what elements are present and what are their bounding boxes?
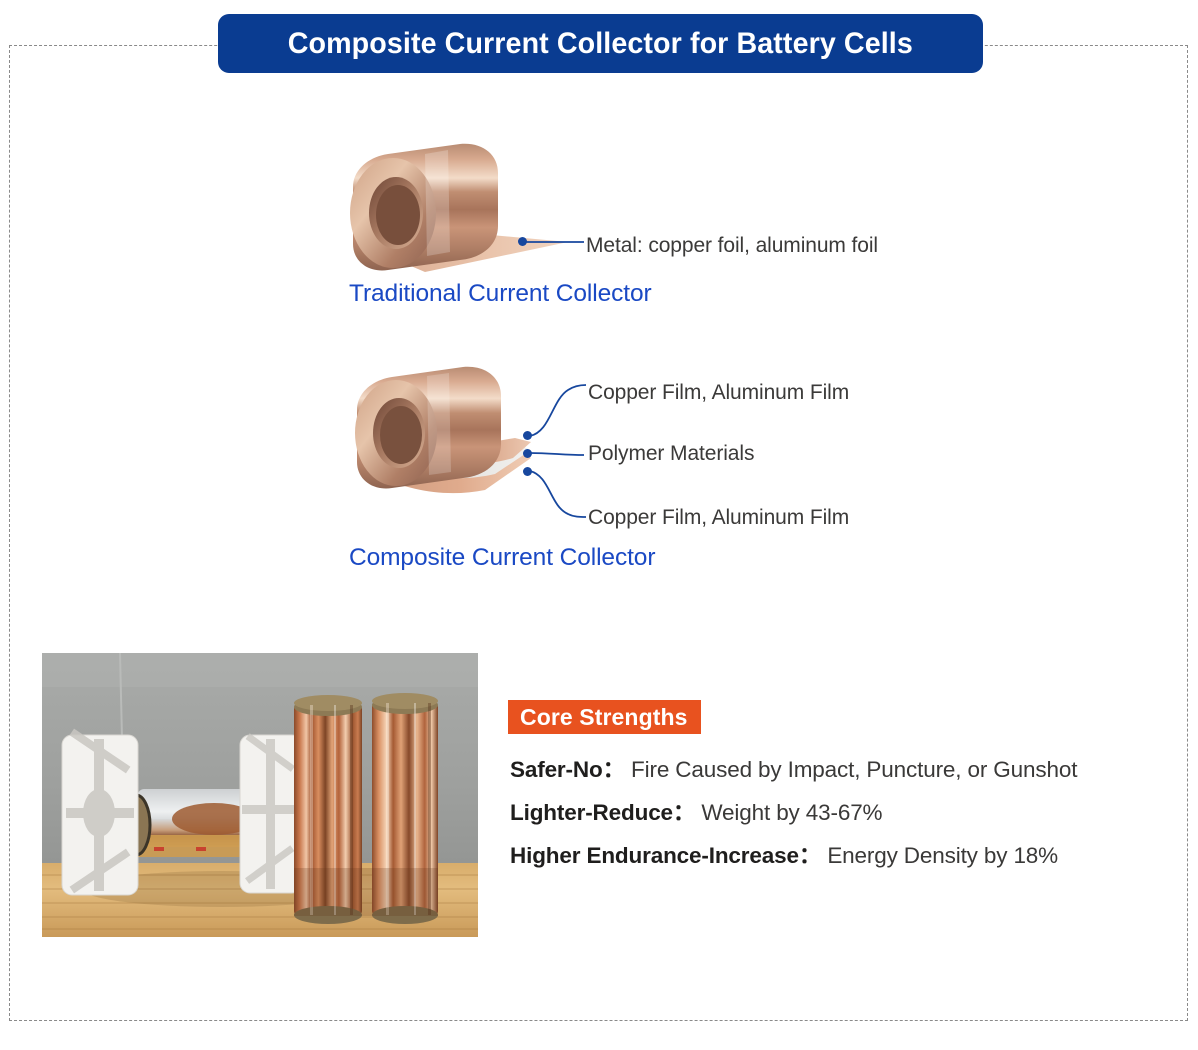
caption-traditional-current-collector: Traditional Current Collector xyxy=(349,280,652,308)
leader-line-copper-film-bottom xyxy=(528,468,588,520)
core-strength-item-lighter: Lighter-Reduce： Weight by 43-67% xyxy=(510,795,882,827)
core-strength-value-safer: Fire Caused by Impact, Puncture, or Guns… xyxy=(631,757,1077,782)
callout-label-polymer-materials: Polymer Materials xyxy=(588,442,754,466)
callout-label-copper-film-bottom: Copper Film, Aluminum Film xyxy=(588,506,849,530)
callout-label-copper-film-top: Copper Film, Aluminum Film xyxy=(588,381,849,405)
leader-line-copper-film-top xyxy=(528,380,588,438)
core-strength-value-lighter: Weight by 43-67% xyxy=(701,800,882,825)
core-strengths-badge: Core Strengths xyxy=(508,700,701,734)
core-strength-item-safer: Safer-No： Fire Caused by Impact, Punctur… xyxy=(510,752,1077,784)
core-strength-key-endurance: Higher Endurance-Increase： xyxy=(510,843,821,868)
core-strength-item-endurance: Higher Endurance-Increase： Energy Densit… xyxy=(510,838,1058,870)
core-strength-value-endurance: Energy Density by 18% xyxy=(827,843,1058,868)
callout-label-traditional-metal: Metal: copper foil, aluminum foil xyxy=(586,234,878,258)
page-title-banner: Composite Current Collector for Battery … xyxy=(218,14,983,73)
core-strength-key-safer: Safer-No： xyxy=(510,757,625,782)
leader-line-traditional-metal xyxy=(520,236,586,248)
product-photo xyxy=(42,653,478,937)
traditional-collector-illustration xyxy=(330,140,650,280)
core-strength-key-lighter: Lighter-Reduce： xyxy=(510,800,695,825)
core-strengths-badge-label: Core Strengths xyxy=(520,704,688,731)
leader-line-polymer-materials xyxy=(528,448,586,460)
caption-composite-current-collector: Composite Current Collector xyxy=(349,544,655,572)
page-title: Composite Current Collector for Battery … xyxy=(288,27,913,61)
